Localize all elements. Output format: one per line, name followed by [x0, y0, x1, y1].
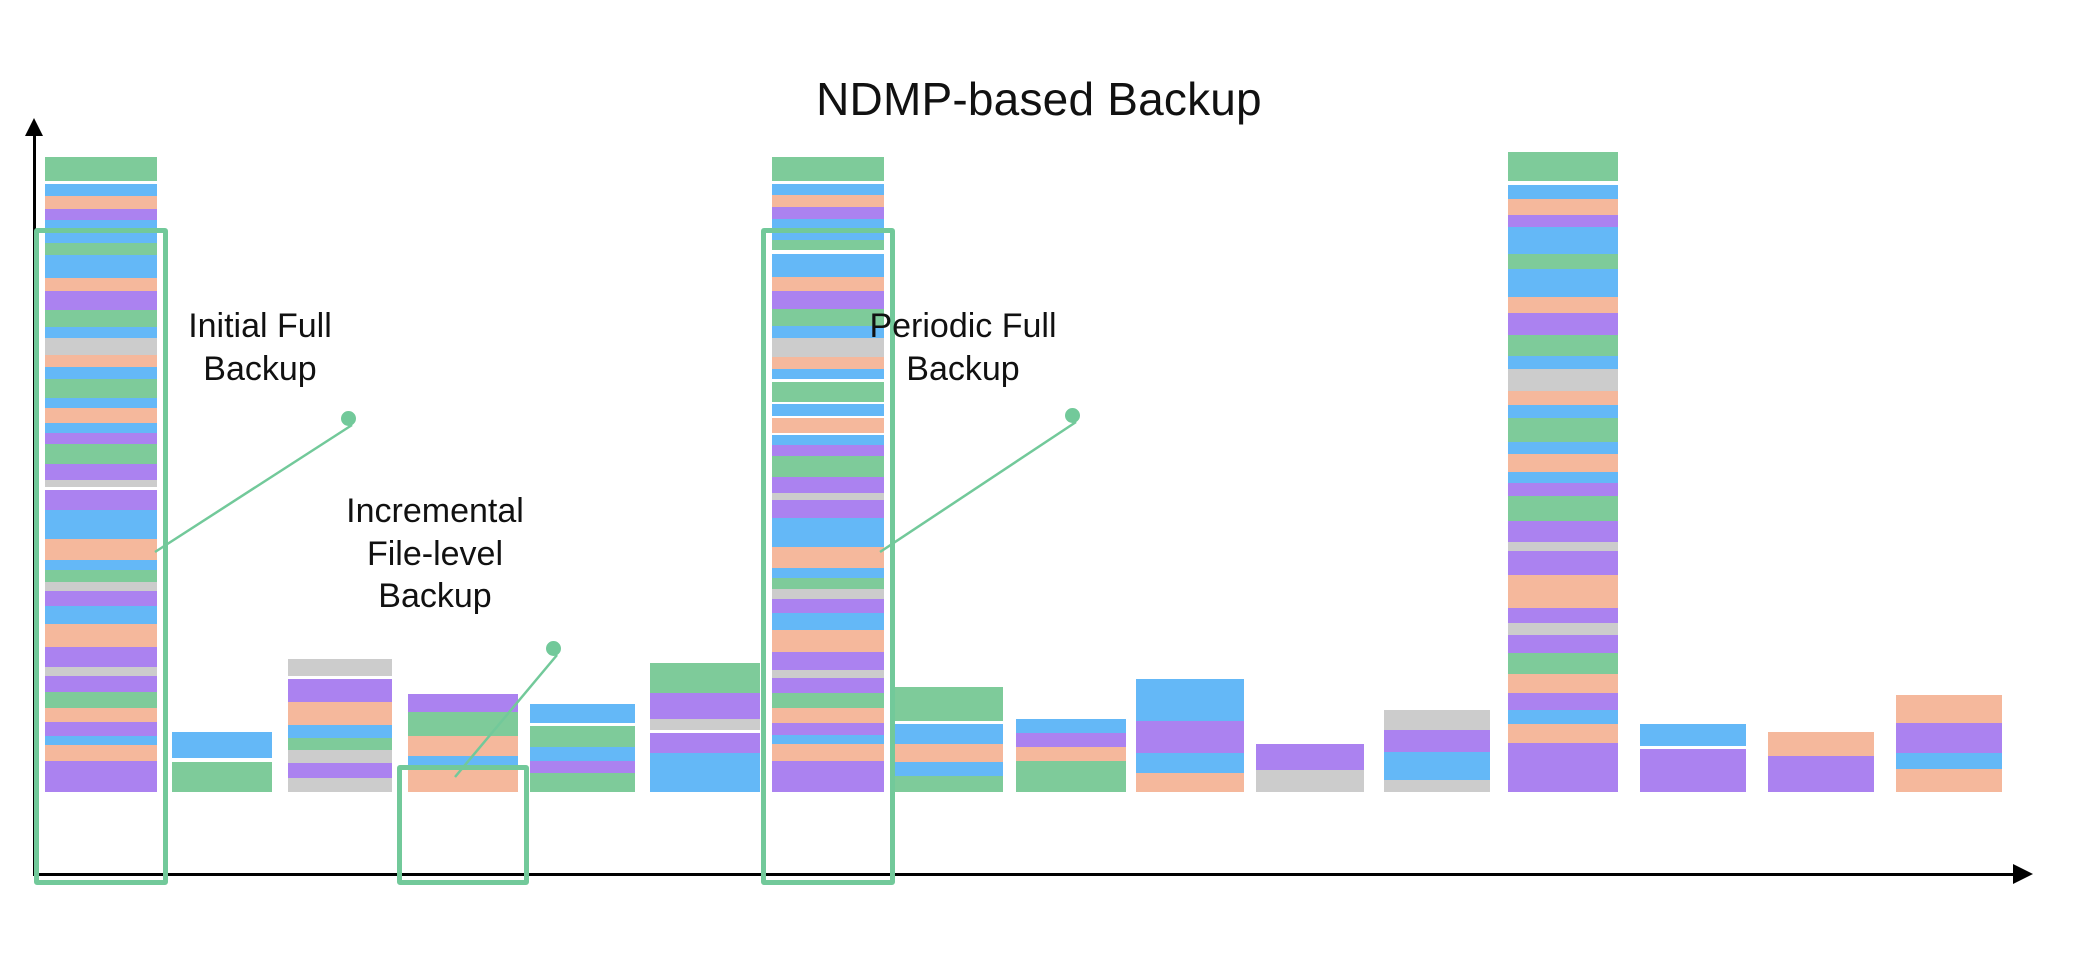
bar-11-segment-1: [1384, 730, 1490, 752]
bar-12-segment-7: [1508, 269, 1618, 298]
bar-12-segment-33: [1508, 743, 1618, 791]
bar-0-segment-40: [45, 745, 157, 761]
bar-14-segment-0: [1768, 732, 1874, 756]
bar-15-segment-0: [1896, 695, 2002, 723]
bar-1[interactable]: [172, 732, 272, 792]
bar-6-segment-3: [772, 195, 884, 207]
bar-7-segment-5: [895, 776, 1003, 792]
bar-0-segment-22: [45, 480, 157, 487]
bar-5-segment-2: [650, 719, 760, 730]
bar-0-segment-38: [45, 722, 157, 735]
bar-15-segment-2: [1896, 753, 2002, 769]
bar-12-segment-23: [1508, 551, 1618, 575]
chart-canvas: NDMP-based Backup Initial Full BackupInc…: [0, 0, 2078, 956]
bar-6-segment-26: [772, 477, 884, 493]
bar-6[interactable]: [772, 157, 884, 792]
bar-12-segment-13: [1508, 391, 1618, 405]
bar-6-segment-42: [772, 723, 884, 735]
bar-0-segment-16: [45, 398, 157, 409]
bar-5-segment-1: [650, 693, 760, 719]
bar-2-segment-8: [288, 778, 392, 792]
bar-7-segment-3: [895, 744, 1003, 762]
bar-6-segment-33: [772, 589, 884, 598]
bar-0-segment-25: [45, 510, 157, 539]
bar-15-segment-3: [1896, 769, 2002, 792]
bar-4-segment-5: [530, 773, 635, 792]
bar-6-segment-9: [772, 277, 884, 290]
bar-12-segment-6: [1508, 254, 1618, 268]
bar-7[interactable]: [895, 687, 1003, 792]
bar-9-segment-3: [1136, 773, 1244, 792]
bar-6-segment-0: [772, 157, 884, 181]
bar-0-segment-28: [45, 570, 157, 582]
bar-9-segment-2: [1136, 753, 1244, 773]
bar-3-segment-3: [408, 756, 518, 769]
bar-6-segment-25: [772, 456, 884, 477]
bar-12-segment-22: [1508, 542, 1618, 552]
bar-0-segment-0: [45, 157, 157, 181]
bar-12-segment-21: [1508, 521, 1618, 542]
bar-6-segment-8: [772, 254, 884, 278]
bar-0-segment-3: [45, 196, 157, 209]
bar-0-segment-5: [45, 220, 157, 243]
bar-5[interactable]: [650, 663, 760, 792]
bar-4-segment-3: [530, 747, 635, 761]
bar-8-segment-1: [1016, 733, 1126, 747]
bar-11-segment-2: [1384, 752, 1490, 780]
callout-label-periodic-full-backup: Periodic Full Backup: [763, 305, 1163, 390]
bar-12-segment-27: [1508, 635, 1618, 652]
bar-12-segment-10: [1508, 335, 1618, 356]
bar-2-segment-2: [288, 679, 392, 702]
bar-6-segment-27: [772, 493, 884, 500]
bar-0-segment-37: [45, 708, 157, 723]
bar-12-segment-15: [1508, 418, 1618, 442]
bar-12-segment-32: [1508, 724, 1618, 743]
bar-12-segment-8: [1508, 297, 1618, 313]
bar-12-segment-16: [1508, 442, 1618, 455]
bar-4[interactable]: [530, 704, 635, 792]
bar-2[interactable]: [288, 659, 392, 792]
bar-11-segment-0: [1384, 710, 1490, 730]
bar-12-segment-12: [1508, 369, 1618, 391]
bar-10-segment-0: [1256, 744, 1364, 770]
bar-5-segment-4: [650, 733, 760, 753]
bar-0-segment-39: [45, 736, 157, 745]
bar-6-segment-21: [772, 418, 884, 433]
bar-4-segment-4: [530, 761, 635, 773]
bar-0-segment-20: [45, 444, 157, 464]
callout-dot-incremental-file-level-backup: [546, 641, 561, 656]
bar-8-segment-2: [1016, 747, 1126, 761]
bar-2-segment-5: [288, 738, 392, 750]
bar-6-segment-23: [772, 435, 884, 446]
bar-12-segment-2: [1508, 185, 1618, 199]
bar-6-segment-19: [772, 404, 884, 416]
bar-8[interactable]: [1016, 719, 1126, 792]
bar-0-segment-21: [45, 464, 157, 480]
bar-2-segment-0: [288, 659, 392, 676]
bar-0-segment-2: [45, 184, 157, 196]
bar-12-segment-11: [1508, 356, 1618, 369]
bar-6-segment-29: [772, 518, 884, 547]
bar-7-segment-2: [895, 724, 1003, 744]
bar-7-segment-4: [895, 762, 1003, 776]
bar-6-segment-2: [772, 184, 884, 195]
bar-0-segment-18: [45, 423, 157, 434]
bar-1-segment-2: [172, 762, 272, 792]
bar-11[interactable]: [1384, 710, 1490, 792]
bar-0-segment-8: [45, 278, 157, 291]
bar-12-segment-26: [1508, 623, 1618, 636]
bar-0-segment-30: [45, 591, 157, 606]
bar-12-segment-24: [1508, 575, 1618, 608]
bar-12-segment-18: [1508, 472, 1618, 483]
bar-6-segment-28: [772, 500, 884, 519]
bar-6-segment-38: [772, 670, 884, 678]
bar-12-segment-31: [1508, 710, 1618, 724]
bar-12-segment-28: [1508, 653, 1618, 674]
bar-1-segment-0: [172, 732, 272, 758]
bar-12-segment-14: [1508, 405, 1618, 418]
bar-3[interactable]: [408, 694, 518, 792]
bar-0-segment-35: [45, 676, 157, 692]
bar-5-segment-0: [650, 663, 760, 693]
bar-7-segment-0: [895, 687, 1003, 721]
bar-0-segment-41: [45, 761, 157, 792]
bar-8-segment-0: [1016, 719, 1126, 733]
bar-12-segment-19: [1508, 483, 1618, 496]
bar-0-segment-34: [45, 667, 157, 676]
bar-6-segment-36: [772, 630, 884, 651]
callout-label-incremental-file-level-backup: Incremental File-level Backup: [235, 490, 635, 618]
bar-15-segment-1: [1896, 723, 2002, 753]
bar-12-segment-0: [1508, 152, 1618, 181]
bar-0-segment-33: [45, 647, 157, 667]
bar-0-segment-24: [45, 490, 157, 510]
bar-6-segment-4: [772, 207, 884, 219]
bar-0-segment-19: [45, 433, 157, 444]
bar-0-segment-31: [45, 606, 157, 625]
bar-0-segment-27: [45, 560, 157, 569]
bar-6-segment-32: [772, 578, 884, 590]
bar-3-segment-0: [408, 694, 518, 712]
bar-12-segment-3: [1508, 199, 1618, 215]
callout-label-initial-full-backup: Initial Full Backup: [60, 305, 460, 390]
bar-6-segment-40: [772, 693, 884, 709]
bar-12[interactable]: [1508, 152, 1618, 792]
bars-layer: [0, 0, 2078, 874]
bar-2-segment-6: [288, 750, 392, 762]
bar-4-segment-0: [530, 704, 635, 723]
bar-12-segment-20: [1508, 496, 1618, 521]
bar-0[interactable]: [45, 157, 157, 792]
bar-12-segment-29: [1508, 674, 1618, 693]
bar-5-segment-5: [650, 753, 760, 792]
bar-8-segment-3: [1016, 761, 1126, 792]
bar-0-segment-36: [45, 692, 157, 708]
bar-0-segment-32: [45, 624, 157, 647]
bar-3-segment-1: [408, 712, 518, 736]
bar-14-segment-1: [1768, 756, 1874, 792]
bar-12-segment-4: [1508, 215, 1618, 228]
bar-6-segment-39: [772, 678, 884, 693]
bar-3-segment-4: [408, 768, 518, 792]
bar-12-segment-9: [1508, 313, 1618, 335]
bar-3-segment-2: [408, 736, 518, 756]
bar-10-segment-1: [1256, 770, 1364, 792]
bar-6-segment-31: [772, 568, 884, 577]
callout-dot-initial-full-backup: [341, 411, 356, 426]
bar-12-segment-30: [1508, 693, 1618, 710]
bar-13-segment-2: [1640, 749, 1746, 792]
bar-2-segment-4: [288, 725, 392, 737]
bar-6-segment-34: [772, 599, 884, 614]
bar-0-segment-26: [45, 539, 157, 560]
bar-6-segment-45: [772, 761, 884, 791]
bar-12-segment-25: [1508, 608, 1618, 622]
bar-2-segment-7: [288, 763, 392, 778]
bar-4-segment-2: [530, 726, 635, 747]
callout-dot-periodic-full-backup: [1065, 408, 1080, 423]
bar-9[interactable]: [1136, 679, 1244, 792]
bar-0-segment-6: [45, 243, 157, 255]
bar-6-segment-43: [772, 735, 884, 744]
bar-9-segment-1: [1136, 721, 1244, 753]
bar-9-segment-0: [1136, 679, 1244, 721]
bar-10[interactable]: [1256, 744, 1364, 792]
bar-2-segment-3: [288, 702, 392, 725]
bar-6-segment-6: [772, 240, 884, 251]
bar-0-segment-7: [45, 255, 157, 278]
bar-12-segment-5: [1508, 227, 1618, 254]
bar-6-segment-35: [772, 613, 884, 630]
bar-14[interactable]: [1768, 732, 1874, 792]
bar-15[interactable]: [1896, 695, 2002, 792]
bar-6-segment-41: [772, 708, 884, 723]
bar-11-segment-3: [1384, 780, 1490, 792]
bar-6-segment-37: [772, 652, 884, 671]
bar-6-segment-24: [772, 445, 884, 456]
bar-0-segment-17: [45, 408, 157, 423]
bar-13[interactable]: [1640, 724, 1746, 792]
bar-0-segment-4: [45, 209, 157, 220]
bar-0-segment-29: [45, 582, 157, 591]
bar-6-segment-44: [772, 744, 884, 761]
bar-12-segment-17: [1508, 454, 1618, 471]
bar-6-segment-30: [772, 547, 884, 568]
bar-6-segment-5: [772, 219, 884, 240]
bar-13-segment-0: [1640, 724, 1746, 746]
